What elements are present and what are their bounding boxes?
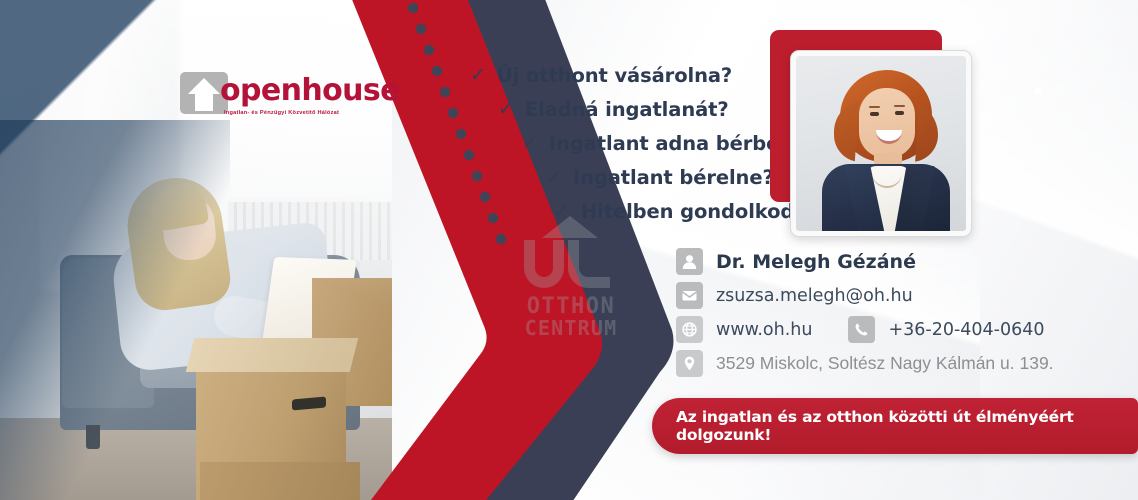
openhouse-logo: openhouse Ingatlan- és Pénzügyi Közvetít…	[180, 72, 355, 126]
question-text: Új otthont vásárolna?	[497, 64, 732, 87]
marketing-banner: openhouse Ingatlan- és Pénzügyi Közvetít…	[0, 0, 1138, 500]
contact-address-row: 3529 Miskolc, Soltész Nagy Kálmán u. 139…	[676, 350, 1096, 377]
agent-portrait	[770, 30, 970, 235]
openhouse-tagline: Ingatlan- és Pénzügyi Közvetítő Hálózat	[224, 110, 339, 116]
watermark-line-2: CENTRUM	[506, 316, 636, 340]
check-icon: ✓	[498, 100, 514, 119]
openhouse-wordmark: openhouse	[220, 73, 400, 108]
question-text: Eladná ingatlanát?	[525, 98, 729, 121]
check-icon: ✓	[470, 66, 486, 85]
agent-website[interactable]: www.oh.hu	[716, 320, 812, 340]
location-pin-icon	[676, 350, 703, 377]
portrait-photo	[796, 56, 966, 231]
otthon-centrum-watermark: OTTHON CENTRUM	[506, 216, 636, 341]
globe-icon	[676, 316, 703, 343]
contact-name-row: Dr. Melegh Gézáné	[676, 248, 1096, 275]
watermark-letter-c	[568, 240, 610, 288]
contact-web-phone-row[interactable]: www.oh.hu +36-20-404-0640	[676, 316, 1096, 343]
agent-email[interactable]: zsuzsa.melegh@oh.hu	[716, 286, 913, 306]
question-text: Ingatlant bérelne?	[573, 166, 774, 189]
envelope-icon	[676, 282, 703, 309]
person-icon	[676, 248, 703, 275]
slogan-banner: Az ingatlan és az otthon közötti út élmé…	[652, 398, 1138, 454]
watermark-letter-o	[524, 240, 564, 288]
agent-phone[interactable]: +36-20-404-0640	[888, 320, 1044, 340]
agent-name: Dr. Melegh Gézáné	[716, 251, 916, 273]
portrait-frame	[790, 50, 972, 237]
check-icon: ✓	[522, 134, 538, 153]
question-text: Ingatlant adna bérbe?	[549, 132, 791, 155]
contact-email-row[interactable]: zsuzsa.melegh@oh.hu	[676, 282, 1096, 309]
agent-address: 3529 Miskolc, Soltész Nagy Kálmán u. 139…	[716, 353, 1054, 374]
phone-icon	[848, 316, 875, 343]
check-icon: ✓	[554, 202, 570, 221]
check-icon: ✓	[546, 168, 562, 187]
slogan-text: Az ingatlan és az otthon közötti út élmé…	[676, 408, 1138, 444]
contact-block: Dr. Melegh Gézáné zsuzsa.melegh@oh.hu	[676, 248, 1096, 384]
